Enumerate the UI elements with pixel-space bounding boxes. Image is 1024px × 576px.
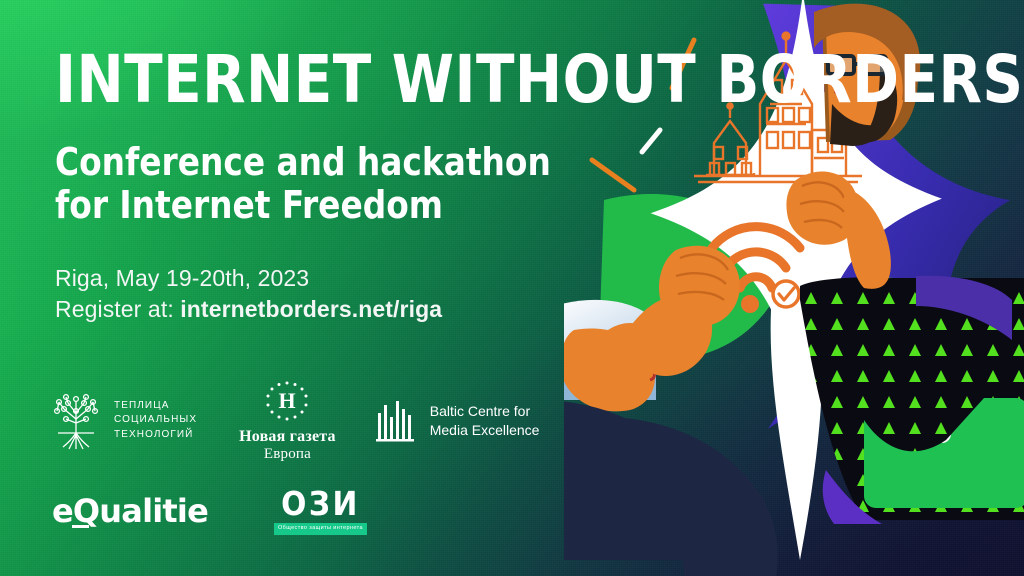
antenna-bars-icon bbox=[376, 399, 416, 443]
subtitle: Conference and hackathon for Internet Fr… bbox=[55, 141, 650, 227]
event-details: Riga, May 19-20th, 2023 Register at: int… bbox=[55, 263, 675, 325]
sponsor-logo-baltic-centre[interactable]: Baltic Centre for Media Excellence bbox=[376, 399, 540, 443]
baltic-line-1: Baltic Centre for bbox=[430, 402, 540, 420]
subtitle-line-1: Conference and hackathon bbox=[55, 141, 650, 184]
teplitsa-line-3: ТЕХНОЛОГИЙ bbox=[114, 428, 197, 443]
ozi-tagline: Общество защиты интернета bbox=[274, 523, 367, 535]
location-date: Riga, May 19-20th, 2023 bbox=[55, 263, 675, 294]
registration-line: Register at: internetborders.net/riga bbox=[55, 294, 675, 325]
svg-text:Н: Н bbox=[279, 388, 296, 413]
sponsor-name-teplitsa: ТЕПЛИЦА СОЦИАЛЬНЫХ ТЕХНОЛОГИЙ bbox=[114, 399, 197, 443]
baltic-line-2: Media Excellence bbox=[430, 421, 540, 439]
sponsor-logo-teplitsa[interactable]: ТЕПЛИЦА СОЦИАЛЬНЫХ ТЕХНОЛОГИЙ bbox=[50, 389, 197, 453]
poster-canvas: INTERNET WITHOUT BORDERS Conference and … bbox=[0, 0, 1024, 576]
teplitsa-line-2: СОЦИАЛЬНЫХ bbox=[114, 413, 197, 428]
sponsor-row-primary: ТЕПЛИЦА СОЦИАЛЬНЫХ ТЕХНОЛОГИЙ Н Новая га… bbox=[50, 378, 539, 463]
page-title: INTERNET WITHOUT BORDERS bbox=[55, 48, 644, 113]
novaya-line-2: Европа bbox=[264, 446, 311, 463]
ozi-wordmark: ОЗИ bbox=[274, 487, 367, 520]
sponsor-name-baltic: Baltic Centre for Media Excellence bbox=[430, 402, 540, 439]
subtitle-line-2: for Internet Freedom bbox=[55, 184, 650, 227]
novaya-line-1: Новая газета bbox=[239, 428, 336, 446]
green-laptop bbox=[864, 398, 1024, 508]
sponsor-logo-equalitie[interactable]: eQualitie bbox=[52, 492, 208, 530]
teplitsa-line-1: ТЕПЛИЦА bbox=[114, 399, 197, 414]
registration-url[interactable]: internetborders.net/riga bbox=[180, 296, 442, 322]
sponsor-logo-novaya-gazeta[interactable]: Н Новая газета Европа bbox=[239, 380, 336, 463]
equalitie-wordmark: eQualitie bbox=[52, 492, 208, 530]
poster-text-block: INTERNET WITHOUT BORDERS Conference and … bbox=[55, 48, 675, 325]
letter-n-stars-icon: Н bbox=[262, 380, 312, 422]
sponsor-row-secondary: eQualitie ОЗИ Общество защиты интернета bbox=[52, 487, 367, 535]
equalitie-q-underline bbox=[72, 525, 89, 528]
tree-network-icon bbox=[50, 389, 102, 453]
sponsor-logo-ozi[interactable]: ОЗИ Общество защиты интернета bbox=[274, 487, 367, 535]
register-label: Register at: bbox=[55, 296, 180, 322]
